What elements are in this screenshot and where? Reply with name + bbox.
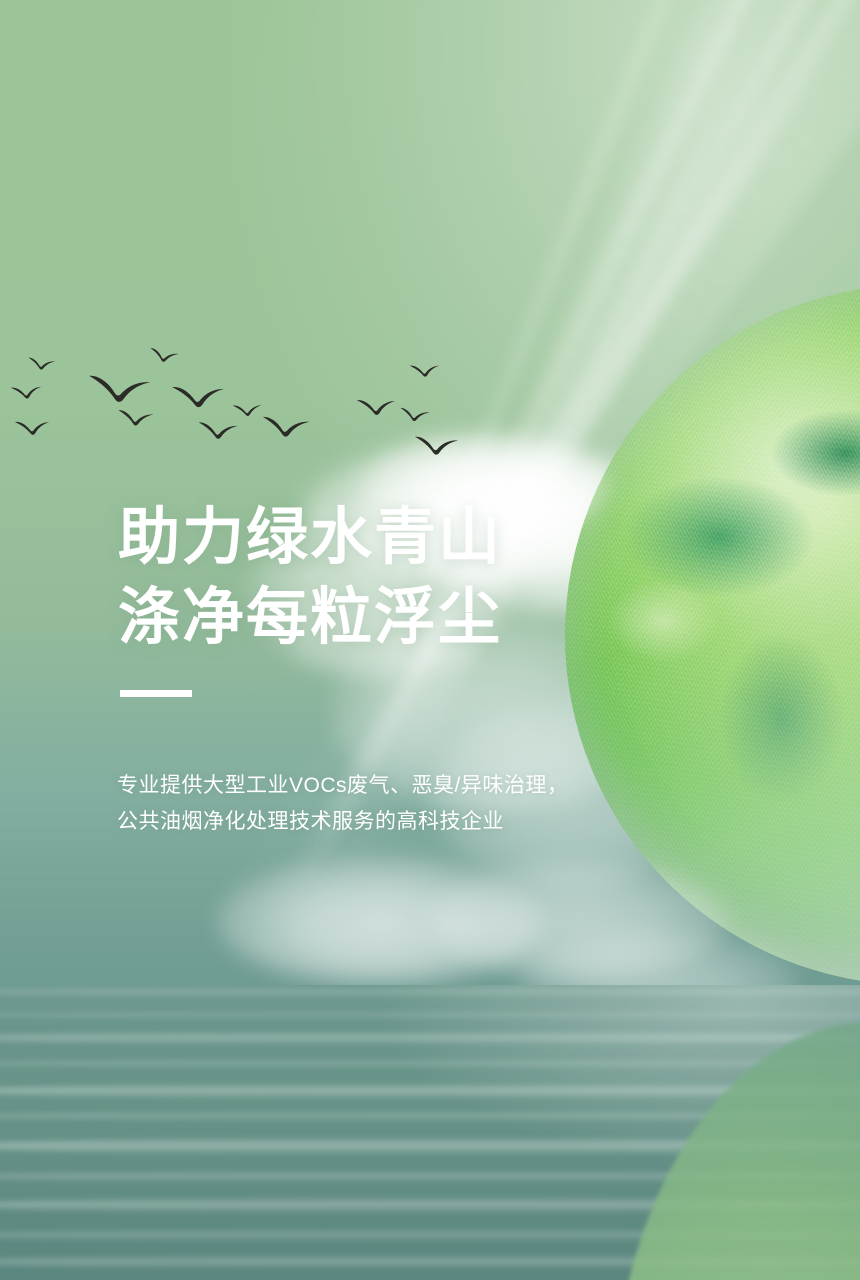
- title-divider: [120, 690, 192, 697]
- headline-line-2: 涤净每粒浮尘: [118, 578, 502, 658]
- headline-line-1: 助力绿水青山: [118, 498, 502, 578]
- poster-canvas: 助力绿水青山 涤净每粒浮尘 专业提供大型工业VOCs废气、恶臭/异味治理， 公共…: [0, 0, 860, 1280]
- text-content: 助力绿水青山 涤净每粒浮尘 专业提供大型工业VOCs废气、恶臭/异味治理， 公共…: [0, 0, 860, 1280]
- subtitle-line-1: 专业提供大型工业VOCs废气、恶臭/异味治理，: [117, 768, 568, 804]
- page-title: 助力绿水青山 涤净每粒浮尘: [118, 498, 502, 658]
- subtitle-line-2: 公共油烟净化处理技术服务的高科技企业: [117, 804, 568, 840]
- page-subtitle: 专业提供大型工业VOCs废气、恶臭/异味治理， 公共油烟净化处理技术服务的高科技…: [117, 768, 568, 840]
